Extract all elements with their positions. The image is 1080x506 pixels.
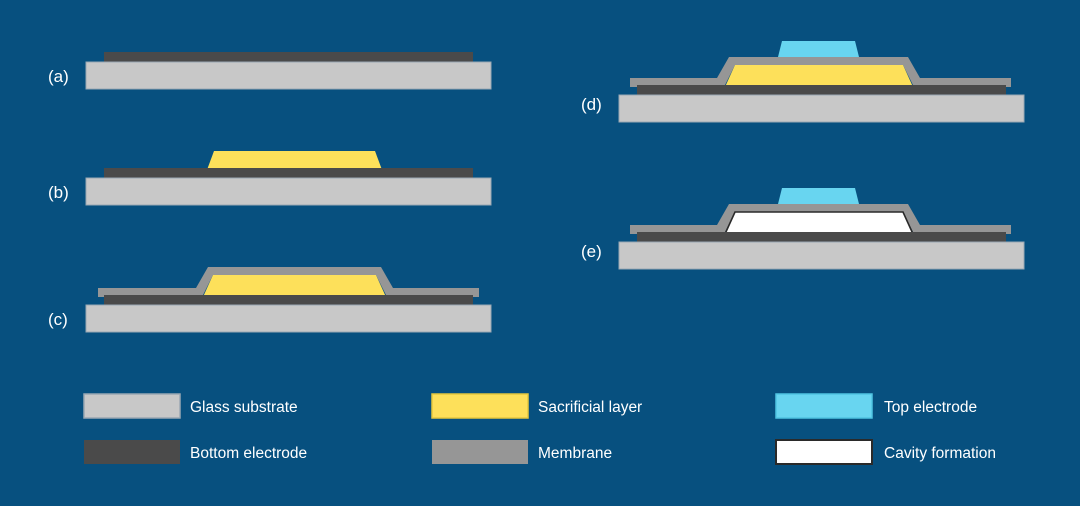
legend: Glass substrate Bottom electrode Sacrifi… xyxy=(84,394,996,464)
process-flow-diagram: (a) (b) (c) (d) xyxy=(0,0,1080,506)
panel-d-bottom-electrode xyxy=(637,85,1006,96)
legend-item-bottom-electrode: Bottom electrode xyxy=(84,440,307,464)
panel-a-glass-substrate xyxy=(86,62,491,89)
legend-item-top-electrode: Top electrode xyxy=(776,394,977,418)
panel-d-label: (d) xyxy=(581,95,602,114)
panel-d: (d) xyxy=(581,41,1024,122)
figure-canvas: (a) (b) (c) (d) xyxy=(0,0,1080,506)
panel-b: (b) xyxy=(48,151,491,205)
panel-e-bottom-electrode xyxy=(637,232,1006,243)
panel-a-label: (a) xyxy=(48,67,69,86)
legend-swatch-glass-substrate xyxy=(84,394,180,418)
panel-e-label: (e) xyxy=(581,242,602,261)
panel-c-glass-substrate xyxy=(86,305,491,332)
panel-b-glass-substrate xyxy=(86,178,491,205)
legend-swatch-sacrificial-layer xyxy=(432,394,528,418)
legend-label-cavity-formation: Cavity formation xyxy=(884,445,996,462)
legend-label-glass-substrate: Glass substrate xyxy=(190,399,298,416)
panel-d-glass-substrate xyxy=(619,95,1024,122)
legend-swatch-cavity-formation xyxy=(776,440,872,464)
legend-swatch-membrane xyxy=(432,440,528,464)
legend-item-sacrificial-layer: Sacrificial layer xyxy=(432,394,642,418)
panel-e-glass-substrate xyxy=(619,242,1024,269)
panel-a-bottom-electrode xyxy=(104,52,473,63)
panel-c-label: (c) xyxy=(48,310,68,329)
legend-swatch-top-electrode xyxy=(776,394,872,418)
legend-swatch-bottom-electrode xyxy=(84,440,180,464)
legend-item-cavity-formation: Cavity formation xyxy=(776,440,996,464)
legend-item-glass-substrate: Glass substrate xyxy=(84,394,298,418)
panel-c: (c) xyxy=(48,267,491,332)
legend-item-membrane: Membrane xyxy=(432,440,612,464)
panel-d-sacrificial-layer xyxy=(725,65,913,87)
panel-c-bottom-electrode xyxy=(104,295,473,306)
legend-label-top-electrode: Top electrode xyxy=(884,399,977,416)
panel-e-cavity xyxy=(725,212,913,234)
panel-a: (a) xyxy=(48,52,491,89)
legend-label-sacrificial-layer: Sacrificial layer xyxy=(538,399,642,416)
panel-b-bottom-electrode xyxy=(104,168,473,179)
panel-e: (e) xyxy=(581,188,1024,269)
legend-label-membrane: Membrane xyxy=(538,445,612,462)
panel-b-label: (b) xyxy=(48,183,69,202)
legend-label-bottom-electrode: Bottom electrode xyxy=(190,445,307,462)
panel-c-sacrificial-layer xyxy=(203,275,386,297)
